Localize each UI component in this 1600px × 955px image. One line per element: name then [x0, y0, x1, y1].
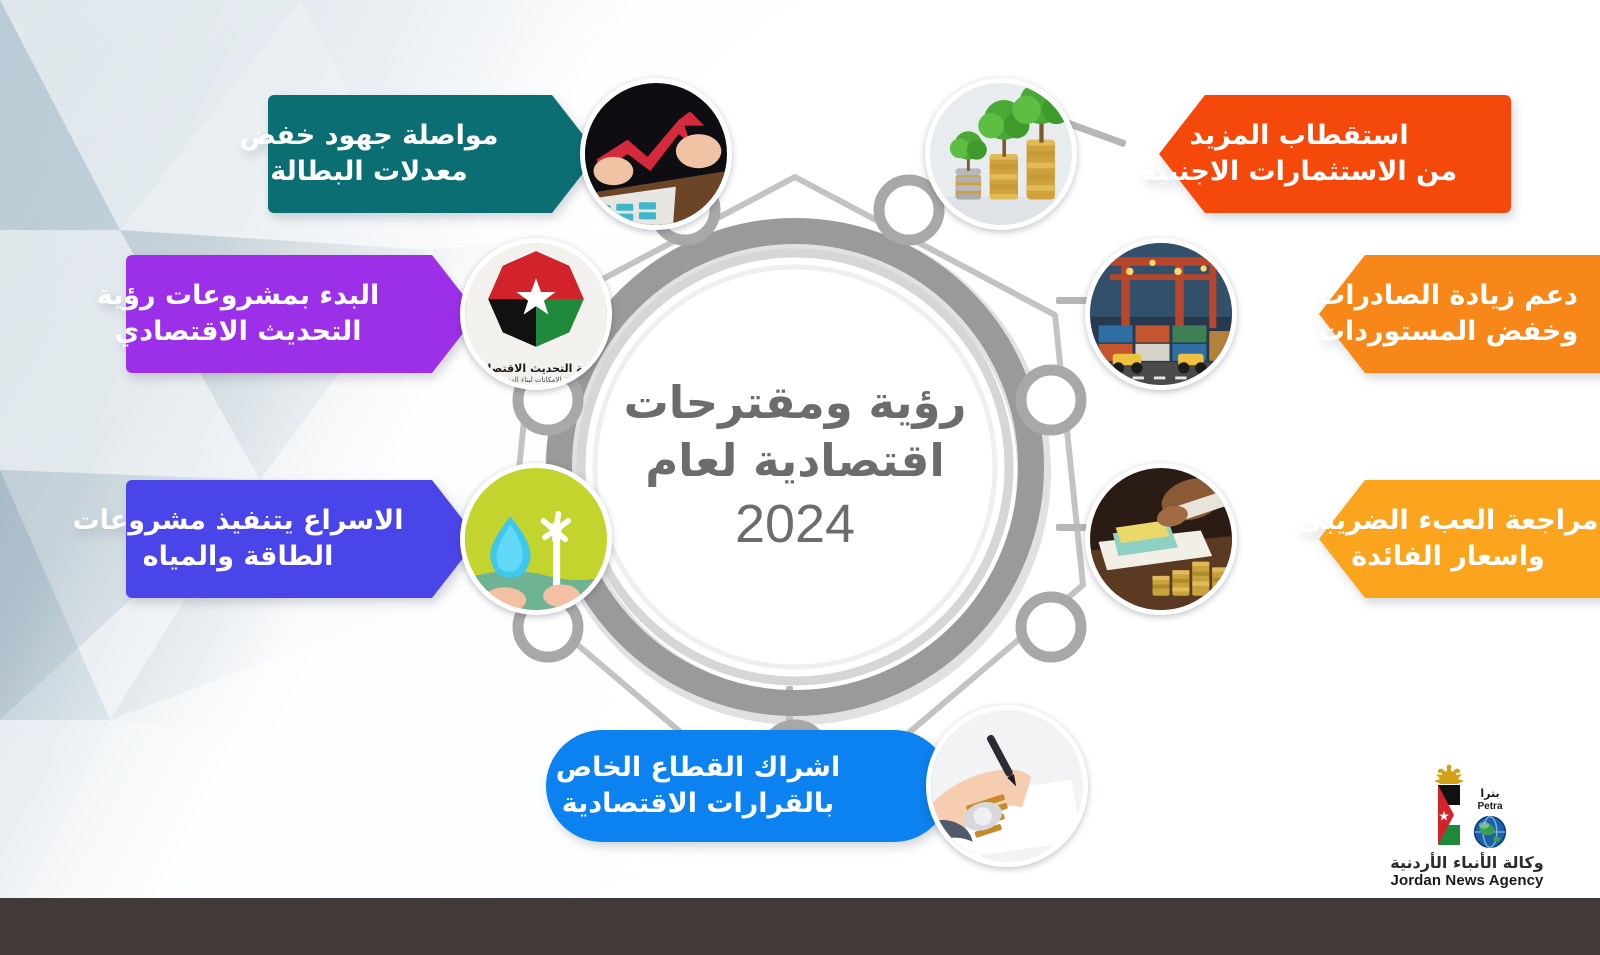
- petra-logo: بترا Petra: [1362, 763, 1572, 889]
- hub-node-6: [1021, 597, 1081, 657]
- item-foreign-investment[interactable]: استقطاب المزيد من الاستثمارات الاجنبية: [925, 78, 1511, 230]
- calculator-coins-photo-icon: [1085, 463, 1237, 615]
- growth-arrow-icon: [585, 83, 727, 225]
- infographic-canvas: رؤية ومقترحات اقتصادية لعام 2024: [0, 0, 1600, 955]
- item-unemployment-label: مواصلة جهود خفض معدلات البطالة: [168, 118, 598, 190]
- item-private-sector[interactable]: اشراك القطاع الخاص بالقرارات الاقتصادية: [452, 705, 1088, 867]
- petra-brand-en: Petra: [1478, 801, 1503, 812]
- hand-writing-photo-icon: [926, 705, 1088, 867]
- money-trees-photo-icon: [925, 78, 1077, 230]
- tax-calculator-icon: [1090, 468, 1232, 610]
- item-energy-water-chip[interactable]: الاسراع يتنفيذ مشروعات الطاقة والمياه: [26, 480, 478, 598]
- item-tax-interest-chip[interactable]: مراجعة العبء الضريبي واسعار الفائدة: [1219, 480, 1600, 598]
- item-energy-water-label: الاسراع يتنفيذ مشروعات الطاقة والمياه: [26, 503, 478, 575]
- agency-name-en: Jordan News Agency: [1362, 872, 1572, 889]
- item-exports-imports-label: دعم زيادة الصادرات وخفض المستوردات: [1219, 278, 1600, 350]
- item-foreign-investment-chip[interactable]: استقطاب المزيد من الاستثمارات الاجنبية: [1059, 95, 1511, 213]
- jordan-flag-shield-icon: [1427, 763, 1471, 849]
- vision-logo-inner: رؤية التحديث الاقتصادي إطلاق الإمكانات ل…: [465, 243, 607, 385]
- shipping-port-crane-icon: [1090, 243, 1232, 385]
- item-tax-interest[interactable]: مراجعة العبء الضريبي واسعار الفائدة: [1085, 463, 1600, 615]
- petra-brand-ar: بترا: [1480, 787, 1499, 800]
- item-private-sector-label: اشراك القطاع الخاص بالقرارات الاقتصادية: [452, 750, 950, 822]
- wind-turbine-waterdrop-icon: [465, 468, 607, 610]
- item-tax-interest-label: مراجعة العبء الضريبي واسعار الفائدة: [1219, 503, 1600, 575]
- jordan-octagon-flag-icon: [465, 243, 607, 359]
- port-containers-photo-icon: [1085, 238, 1237, 390]
- coins-trees-icon: [930, 83, 1072, 225]
- item-unemployment-chip[interactable]: مواصلة جهود خفض معدلات البطالة: [168, 95, 598, 213]
- item-modernisation-vision[interactable]: رؤية التحديث الاقتصادي إطلاق الإمكانات ل…: [26, 238, 612, 390]
- item-exports-imports-chip[interactable]: دعم زيادة الصادرات وخفض المستوردات: [1219, 255, 1600, 373]
- agency-name-ar: وكالة الأنباء الأردنية: [1362, 853, 1572, 872]
- vision-logo-title: رؤية التحديث الاقتصادي: [472, 363, 600, 375]
- energy-water-photo-icon: [460, 463, 612, 615]
- bottom-bar: [0, 898, 1600, 955]
- petra-logo-mark: بترا Petra: [1362, 763, 1572, 849]
- item-exports-imports[interactable]: دعم زيادة الصادرات وخفض المستوردات: [1085, 238, 1600, 390]
- item-foreign-investment-label: استقطاب المزيد من الاستثمارات الاجنبية: [1059, 118, 1511, 190]
- globe-icon: [1473, 815, 1507, 849]
- item-modernisation-vision-chip[interactable]: البدء بمشروعات رؤية التحديث الاقتصادي: [26, 255, 478, 373]
- item-unemployment[interactable]: مواصلة جهود خفض معدلات البطالة: [168, 78, 732, 230]
- growth-arrow-photo-icon: [580, 78, 732, 230]
- vision-logo-subtitle: إطلاق الإمكانات لبناء المستقبل: [491, 377, 580, 385]
- hub-node-4: [1021, 370, 1081, 430]
- hand-signing-document-icon: [931, 710, 1083, 862]
- item-energy-water[interactable]: الاسراع يتنفيذ مشروعات الطاقة والمياه: [26, 463, 612, 615]
- economic-modernisation-vision-logo-icon: رؤية التحديث الاقتصادي إطلاق الإمكانات ل…: [460, 238, 612, 390]
- item-private-sector-chip[interactable]: اشراك القطاع الخاص بالقرارات الاقتصادية: [452, 730, 950, 842]
- item-modernisation-vision-label: البدء بمشروعات رؤية التحديث الاقتصادي: [26, 278, 478, 350]
